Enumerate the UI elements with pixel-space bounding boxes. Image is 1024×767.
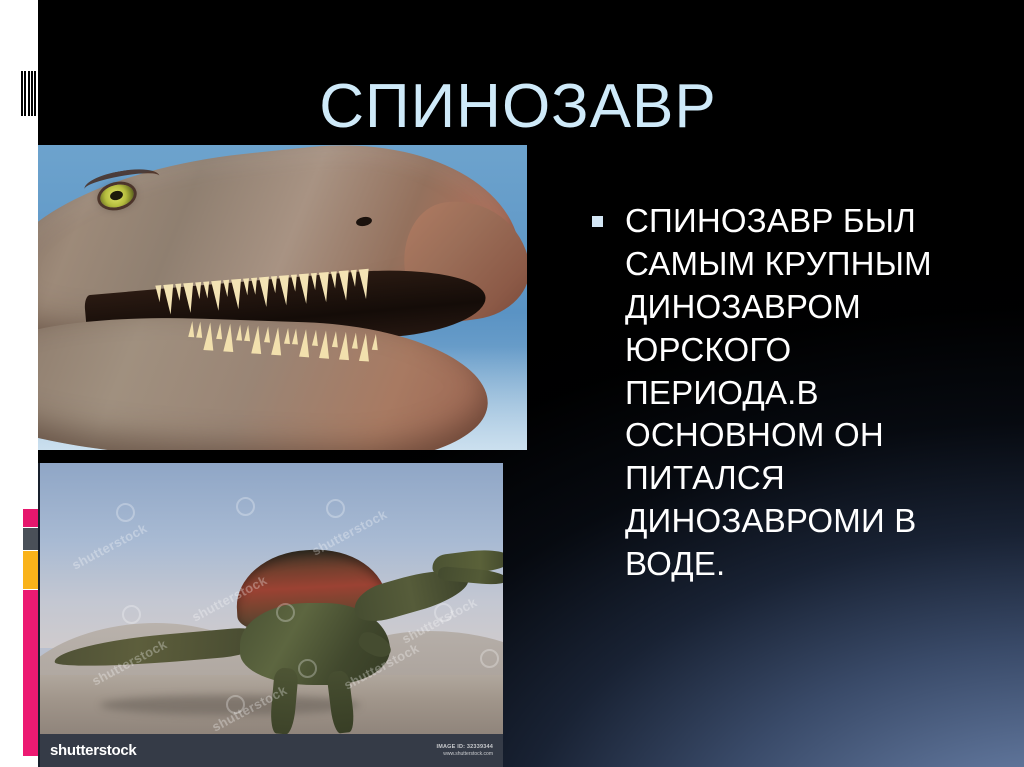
spinosaurus-head-image [38, 145, 527, 450]
square-bullet-icon [592, 216, 603, 227]
registration-mark-gray [23, 528, 38, 550]
spinosaurus-stock-image: shutterstock shutterstock shutterstock s… [38, 463, 503, 767]
presentation-slide: СПИНОЗАВР [0, 0, 1024, 767]
registration-mark-yellow [23, 551, 38, 589]
slide-title: СПИНОЗАВР [38, 74, 998, 139]
stock-footer-meta: IMAGE ID: 32339344 www.shutterstock.com [437, 744, 494, 757]
dinosaur-shadow [100, 695, 360, 715]
stock-footer-bar: shutterstock IMAGE ID: 32339344 www.shut… [40, 734, 503, 767]
body-paragraph: СПИНОЗАВР БЫЛ САМЫМ КРУПНЫМ ДИНОЗАВРОМ Ю… [625, 200, 992, 586]
body-bullet-block: СПИНОЗАВР БЫЛ САМЫМ КРУПНЫМ ДИНОЗАВРОМ Ю… [592, 200, 992, 586]
stock-url: www.shutterstock.com [437, 751, 494, 757]
registration-mark-magenta-large [23, 590, 38, 756]
shutterstock-logo: shutterstock [50, 742, 136, 759]
stock-image-id: IMAGE ID: 32339344 [437, 744, 494, 751]
registration-mark-magenta-small [23, 509, 38, 527]
barcode-icon [21, 71, 38, 116]
left-decoration-strip [0, 0, 38, 767]
